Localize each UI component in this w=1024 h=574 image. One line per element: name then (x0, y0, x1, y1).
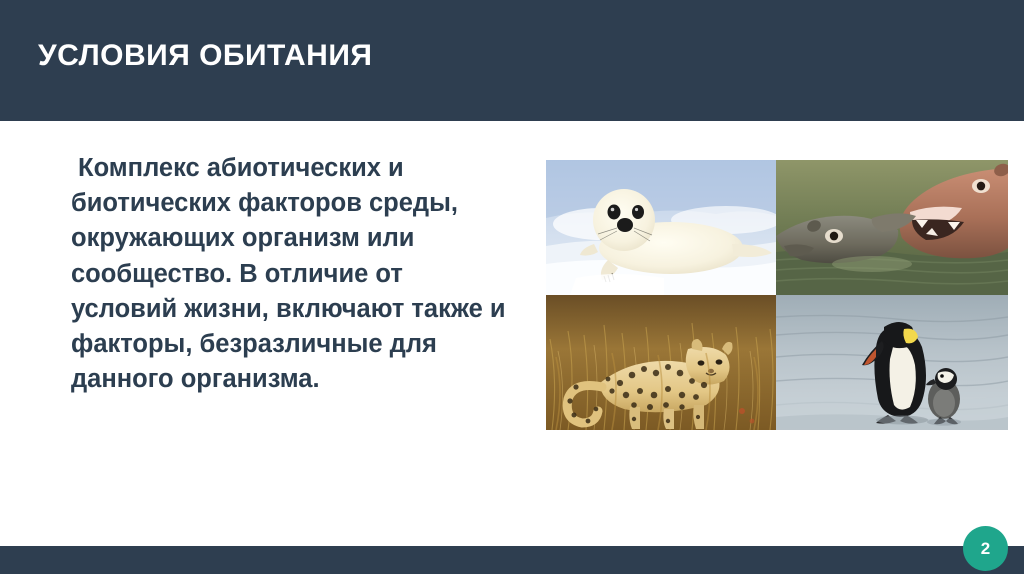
slide-header-bar: УСЛОВИЯ ОБИТАНИЯ (0, 0, 1024, 121)
photo-leopard-in-dry-grass (546, 295, 776, 430)
photo-harp-seal-pup-on-ice (546, 160, 776, 295)
slide-footer-bar (0, 546, 1024, 574)
slide-number-badge: 2 (963, 526, 1008, 571)
slide-body-text: Комплекс абиотических и биотических факт… (40, 151, 510, 397)
photo-emperor-penguin-with-chick (776, 295, 1008, 430)
animal-photo-collage (546, 160, 1008, 430)
page-title: УСЛОВИЯ ОБИТАНИЯ (38, 39, 372, 73)
slide-content-area: Комплекс абиотических и биотических факт… (0, 121, 1024, 546)
photo-hippos-in-water (776, 160, 1008, 295)
